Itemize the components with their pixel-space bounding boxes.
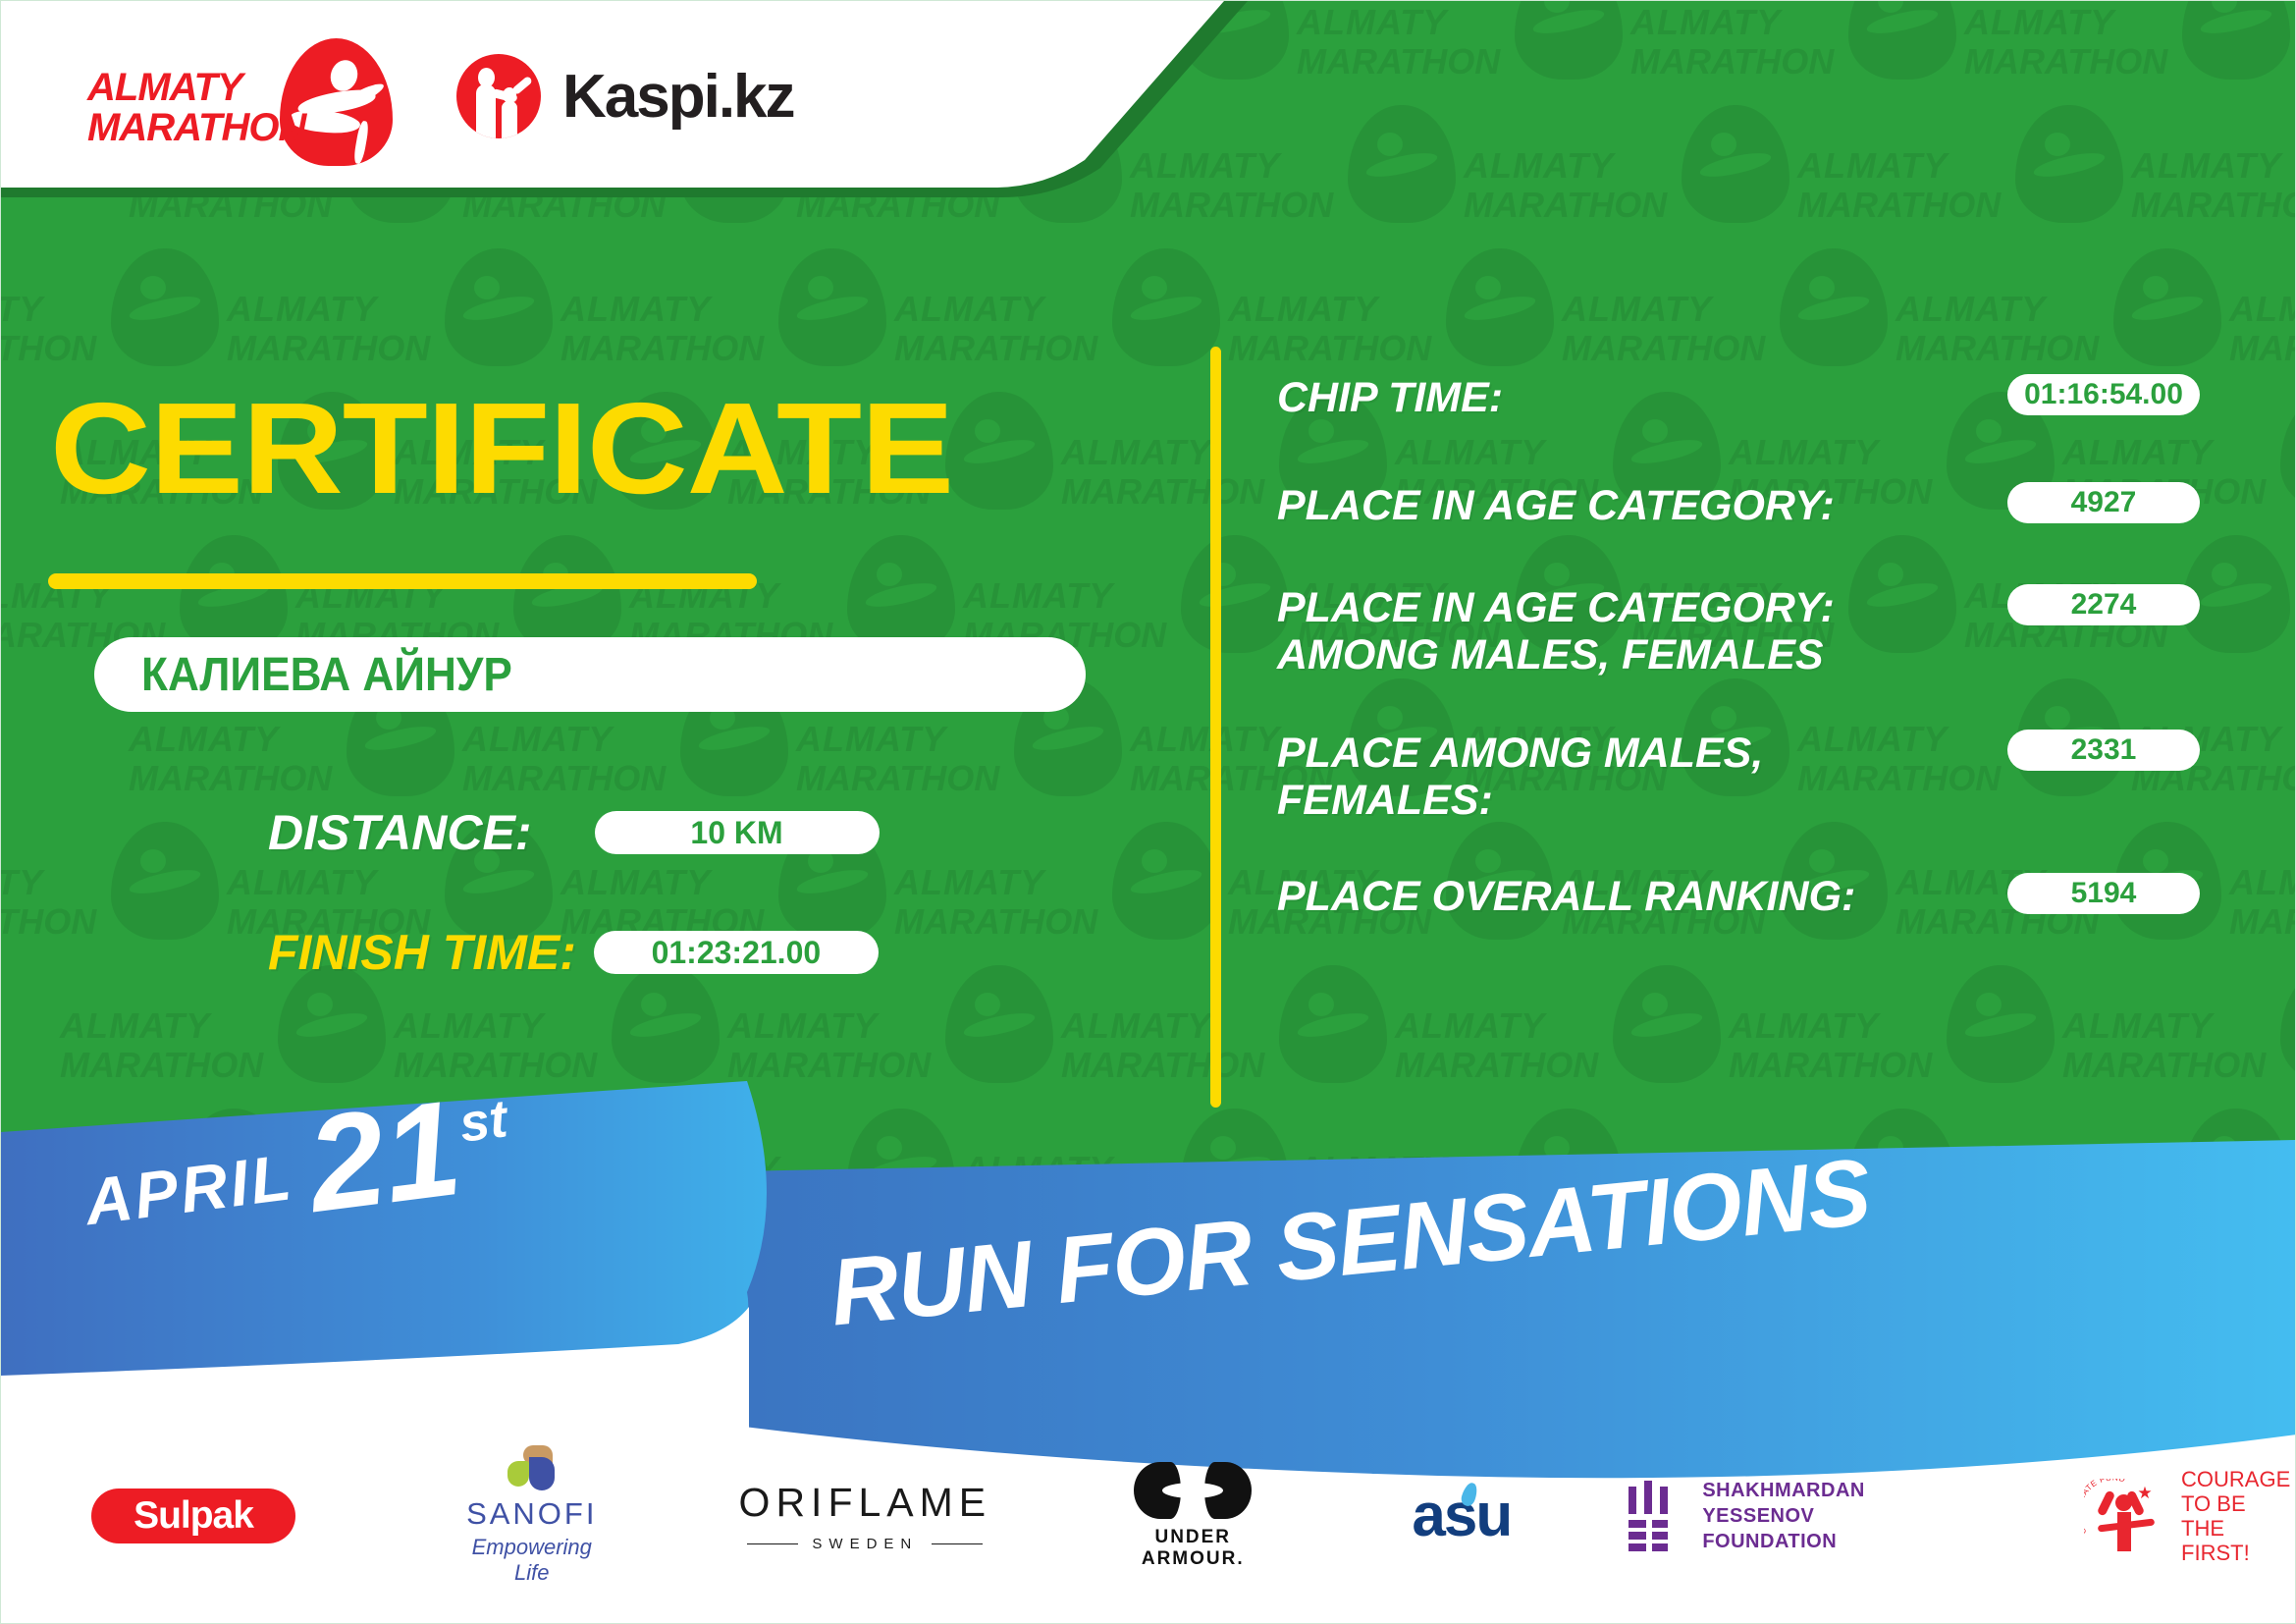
watermark-drop-icon: [1780, 248, 1888, 366]
corporate-fund-logo: CORPORATE FUND ★ COURAGE TO BE THE FIRST…: [2086, 1467, 2296, 1565]
stat-value: 2274: [2007, 584, 2200, 625]
watermark-tile: ALMATYMARATHON: [2229, 822, 2296, 989]
watermark-text: ALMATYMARATHON: [727, 1006, 959, 1085]
stat-label: CHIP TIME:: [1277, 374, 1990, 421]
participant-name-field: КАЛИЕВА АЙНУР: [94, 637, 1086, 712]
stat-label: PLACE OVERALL RANKING:: [1277, 873, 1990, 920]
corporate-fund-line1: COURAGE: [2181, 1467, 2296, 1491]
watermark-text: ALMATYMARATHON: [894, 290, 1126, 368]
sanofi-mark-icon: [506, 1445, 559, 1490]
almaty-marathon-line1: ALMATY: [87, 68, 284, 108]
watermark-drop-icon: [2113, 248, 2221, 366]
stat-value: 5194: [2007, 873, 2200, 914]
watermark-drop-icon: [2182, 1, 2290, 80]
column-divider: [1210, 347, 1221, 1108]
under-armour-logo: UNDER ARMOUR.: [1101, 1462, 1284, 1570]
oriflame-rule-right: [932, 1543, 983, 1544]
yessenov-line2: FOUNDATION: [1702, 1529, 1978, 1554]
watermark-text: ALMATYMARATHON: [2229, 863, 2296, 942]
participant-name-value: КАЛИЕВА АЙНУР: [141, 648, 512, 702]
kaspi-wordmark: Kaspi.kz: [562, 62, 794, 132]
oriflame-sweden: SWEDEN: [812, 1536, 918, 1552]
watermark-tile: ALMATYMARATHON: [1797, 105, 2131, 272]
sponsor-sanofi: SANOFI Empowering Life: [453, 1445, 612, 1586]
stat-row-place-among-males-females: PLACE AMONG MALES, FEMALES: 2331: [1277, 730, 2200, 824]
sanofi-tagline: Empowering Life: [453, 1535, 612, 1586]
watermark-text: ALMATYMARATHON: [1061, 433, 1293, 512]
watermark-text: ALMATYMARATHON: [129, 720, 360, 798]
yessenov-bars-icon: [1629, 1481, 1684, 1551]
watermark-drop-icon: [847, 535, 955, 653]
event-day: 21: [302, 1093, 465, 1220]
event-day-suffix: st: [456, 1088, 510, 1155]
watermark-text: ALMATYMARATHON: [1297, 3, 1528, 81]
watermark-text: ALMATYMARATHON: [2131, 146, 2296, 225]
almaty-marathon-line2: MARATHON: [87, 108, 284, 148]
watermark-text: ALMATYMARATHON: [2062, 1006, 2294, 1085]
watermark-drop-icon: [1112, 248, 1220, 366]
corporate-fund-line2: TO BE: [2181, 1491, 2296, 1516]
watermark-text: ALMATYMARATHON: [227, 290, 458, 368]
stat-value: 01:16:54.00: [2007, 374, 2200, 415]
watermark-drop-icon: [1515, 1, 1623, 80]
stat-label: PLACE IN AGE CATEGORY:: [1277, 482, 1990, 529]
sponsor-sulpak: Sulpak: [91, 1489, 295, 1543]
watermark-text: ALMATYMARATHON: [1896, 290, 2127, 368]
stat-value: 4927: [2007, 482, 2200, 523]
watermark-text: ALMATYMARATHON: [1228, 290, 1460, 368]
watermark-drop-icon: [111, 248, 219, 366]
watermark-text: ALMATYMARATHON: [1395, 1006, 1627, 1085]
watermark-text: ALMATYMARATHON: [1630, 3, 1862, 81]
stat-label-line1: PLACE AMONG MALES,: [1277, 730, 1990, 777]
sponsor-under-armour: UNDER ARMOUR.: [1101, 1462, 1284, 1570]
stat-label: PLACE IN AGE CATEGORY: AMONG MALES, FEMA…: [1277, 584, 1990, 678]
finish-time-row: FINISH TIME: 01:23:21.00: [268, 924, 879, 981]
watermark-tile: ALMATYMARATHON: [2229, 248, 2296, 415]
watermark-text: ALMATYMARATHON: [1964, 3, 2196, 81]
watermark-text: ALMATYMARATHON: [1797, 146, 2029, 225]
stat-value: 2331: [2007, 730, 2200, 771]
corporate-fund-line3: THE FIRST!: [2181, 1516, 2296, 1565]
asu-logo: asu: [1412, 1481, 1511, 1550]
watermark-text: ALMATYMARATHON: [2229, 290, 2296, 368]
corporate-fund-wordmark: COURAGE TO BE THE FIRST!: [2181, 1467, 2296, 1565]
sponsor-oriflame: ORIFLAME SWEDEN: [739, 1480, 992, 1552]
oriflame-logo: ORIFLAME SWEDEN: [739, 1480, 992, 1552]
almaty-marathon-logo: ALMATY MARATHON: [87, 40, 460, 148]
certificate-root: ALMATYMARATHONALMATYMARATHONALMATYMARATH…: [0, 0, 2296, 1624]
watermark-tile: ALMATYMARATHON: [1, 822, 227, 989]
oriflame-rule-left: [747, 1543, 798, 1544]
stat-row-chip-time: CHIP TIME: 01:16:54.00: [1277, 374, 2200, 421]
sponsor-strip: Sulpak SANOFI Empowering Life ORIFLAME S…: [1, 1430, 2296, 1601]
sponsor-corporate-fund: CORPORATE FUND ★ COURAGE TO BE THE FIRST…: [2086, 1467, 2296, 1565]
sanofi-logo: SANOFI Empowering Life: [453, 1445, 612, 1586]
title-underline: [48, 573, 757, 589]
watermark-text: ALMATYMARATHON: [1, 290, 125, 368]
distance-value: 10 KM: [595, 811, 880, 854]
under-armour-wordmark: UNDER ARMOUR.: [1101, 1527, 1284, 1570]
watermark-drop-icon: [180, 535, 288, 653]
watermark-text: ALMATYMARATHON: [394, 1006, 625, 1085]
watermark-text: ALMATYMARATHON: [796, 720, 1028, 798]
watermark-text: ALMATYMARATHON: [561, 290, 792, 368]
sponsor-yessenov-foundation: SHAKHMARDAN YESSENOV FOUNDATION: [1629, 1478, 1978, 1554]
stats-list: CHIP TIME: 01:16:54.00 PLACE IN AGE CATE…: [1277, 374, 2200, 947]
yessenov-line1: SHAKHMARDAN YESSENOV: [1702, 1478, 1978, 1529]
stat-row-place-age-category-among: PLACE IN AGE CATEGORY: AMONG MALES, FEMA…: [1277, 584, 2200, 678]
watermark-tile: ALMATYMARATHON: [2131, 105, 2296, 272]
stat-row-place-age-category: PLACE IN AGE CATEGORY: 4927: [1277, 482, 2200, 529]
stat-label-line2: FEMALES:: [1277, 777, 1990, 824]
stat-label: PLACE AMONG MALES, FEMALES:: [1277, 730, 1990, 824]
stat-row-place-overall-ranking: PLACE OVERALL RANKING: 5194: [1277, 873, 2200, 920]
yessenov-logo: SHAKHMARDAN YESSENOV FOUNDATION: [1629, 1478, 1978, 1554]
kaspi-logo: Kaspi.kz: [456, 42, 794, 150]
corporate-fund-runner-icon: CORPORATE FUND ★: [2086, 1477, 2169, 1555]
header-logos: ALMATY MARATHON Kaspi.kz: [1, 1, 1179, 188]
certificate-title: CERTIFICATE: [50, 384, 953, 514]
yessenov-wordmark: SHAKHMARDAN YESSENOV FOUNDATION: [1702, 1478, 1978, 1554]
sponsor-asu: asu: [1412, 1481, 1511, 1550]
kaspi-people-icon: [456, 54, 541, 138]
watermark-drop-icon: [111, 822, 219, 940]
asu-wordmark: asu: [1412, 1482, 1511, 1549]
watermark-drop-icon: [778, 248, 886, 366]
watermark-text: ALMATYMARATHON: [1464, 146, 1695, 225]
watermark-drop-icon: [1181, 535, 1289, 653]
distance-row: DISTANCE: 10 KM: [268, 804, 880, 861]
watermark-drop-icon: [445, 248, 553, 366]
finish-time-label: FINISH TIME:: [268, 924, 576, 981]
watermark-drop-icon: [1112, 822, 1220, 940]
sanofi-wordmark: SANOFI: [453, 1496, 612, 1532]
watermark-text: ALMATYMARATHON: [1729, 1006, 1960, 1085]
sulpak-logo: Sulpak: [91, 1489, 295, 1543]
watermark-drop-icon: [1446, 248, 1554, 366]
watermark-text: ALMATYMARATHON: [1562, 290, 1793, 368]
watermark-drop-icon: [1848, 1, 1956, 80]
watermark-text: ALMATYMARATHON: [60, 1006, 292, 1085]
stat-label-line2: AMONG MALES, FEMALES: [1277, 631, 1990, 678]
finish-time-value: 01:23:21.00: [594, 931, 879, 974]
watermark-text: ALMATYMARATHON: [1, 863, 125, 942]
stat-label-line1: PLACE IN AGE CATEGORY:: [1277, 584, 1990, 631]
watermark-tile: ALMATYMARATHON: [1464, 105, 1797, 272]
watermark-text: ALMATYMARATHON: [894, 863, 1126, 942]
watermark-text: ALMATYMARATHON: [1061, 1006, 1293, 1085]
oriflame-subline: SWEDEN: [739, 1536, 992, 1552]
almaty-marathon-wordmark: ALMATY MARATHON: [87, 68, 284, 148]
watermark-tile: ALMATYMARATHON: [894, 822, 1228, 989]
oriflame-wordmark: ORIFLAME: [739, 1480, 992, 1526]
watermark-drop-icon: [513, 535, 621, 653]
distance-label: DISTANCE:: [268, 804, 532, 861]
watermark-text: ALMATYMARATHON: [462, 720, 694, 798]
under-armour-icon: [1134, 1462, 1252, 1519]
